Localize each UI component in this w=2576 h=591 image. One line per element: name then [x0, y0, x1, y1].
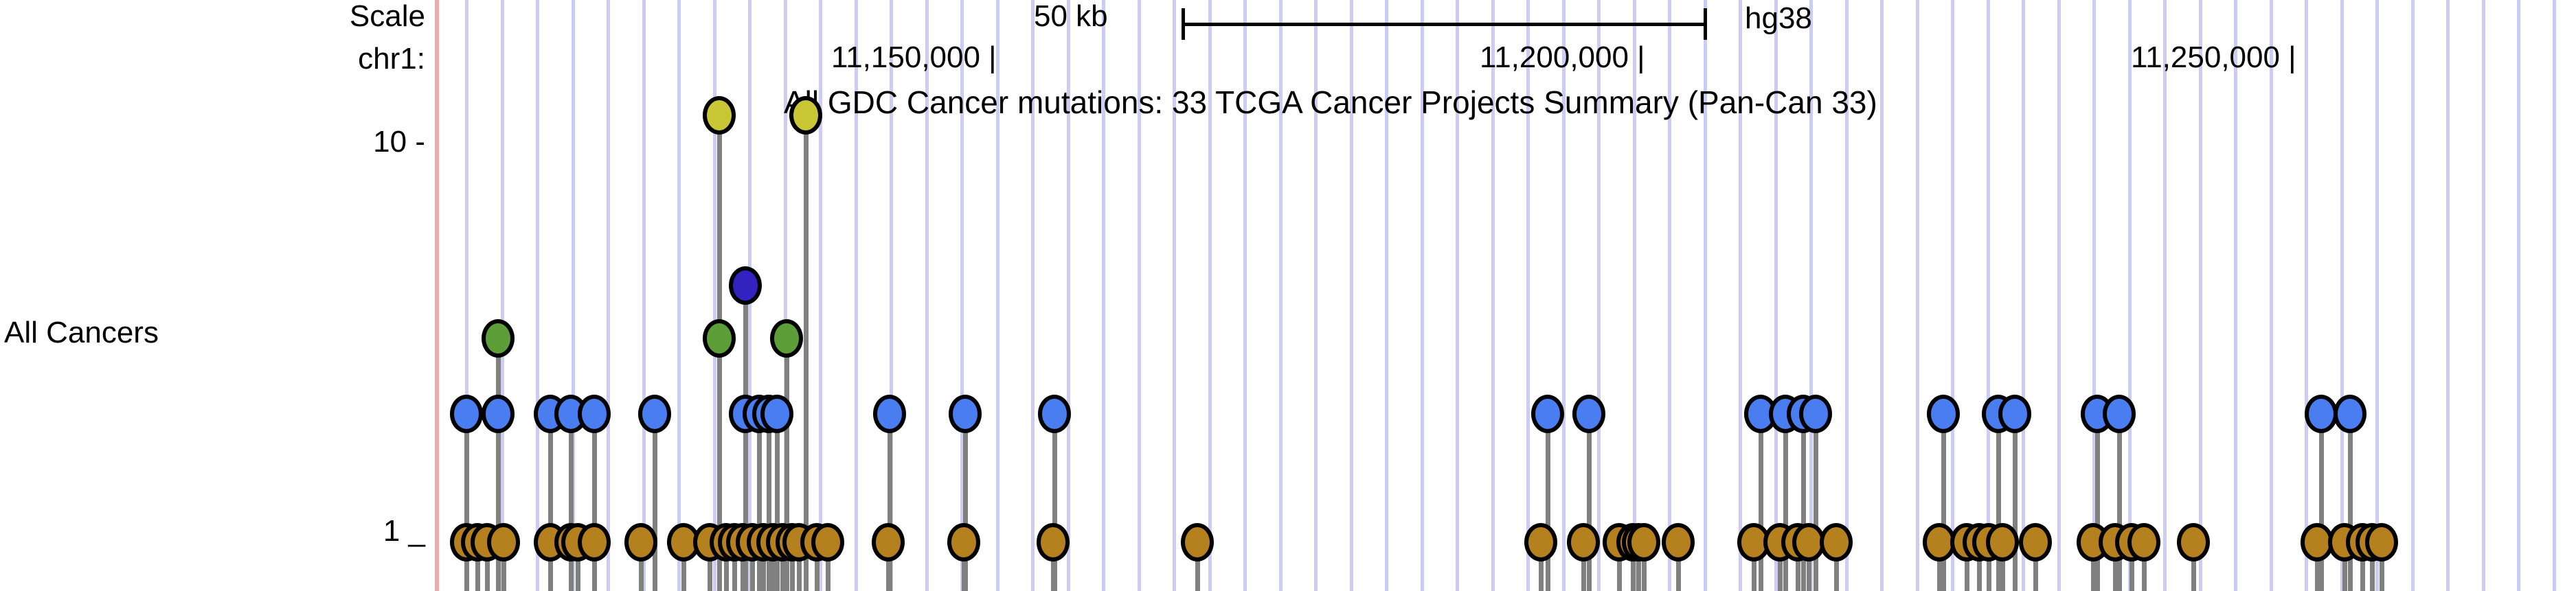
- lollipop-head[interactable]: [1524, 523, 1557, 561]
- lollipop-head[interactable]: [2305, 395, 2338, 433]
- lollipop-head[interactable]: [770, 319, 803, 358]
- lollipop-head[interactable]: [578, 523, 611, 561]
- y-axis-tick-top: 10 -: [373, 127, 425, 157]
- lollipop-stem: [775, 414, 780, 591]
- lollipop-stem: [804, 115, 809, 591]
- lollipop-stem: [1801, 414, 1806, 591]
- lollipop-head[interactable]: [1799, 395, 1832, 433]
- lollipop-head[interactable]: [2019, 523, 2052, 561]
- lollipop-head[interactable]: [2365, 523, 2398, 561]
- lollipop-head[interactable]: [872, 523, 905, 561]
- lollipop-head[interactable]: [811, 523, 844, 561]
- lollipop-head[interactable]: [2103, 395, 2136, 433]
- lollipop-stem: [1546, 414, 1550, 591]
- lollipop-stem: [1587, 414, 1592, 591]
- track-label-column: Scale chr1: 10 - 1 _ All Cancers: [0, 0, 435, 591]
- scale-label: Scale: [350, 1, 425, 32]
- lollipop-stem: [963, 414, 968, 591]
- chromosome-label[interactable]: chr1:: [358, 44, 425, 74]
- lollipop-stem: [2319, 414, 2324, 591]
- lollipop-head[interactable]: [1998, 395, 2031, 433]
- lollipop-stem: [2013, 414, 2018, 591]
- lollipop-stem: [548, 414, 553, 591]
- lollipop-stem: [653, 414, 657, 591]
- lollipop-head[interactable]: [638, 395, 671, 433]
- lollipop-head[interactable]: [873, 395, 906, 433]
- lollipop-stem: [592, 414, 597, 591]
- lollipop-head[interactable]: [1986, 523, 2019, 561]
- lollipop-stem: [1814, 414, 1818, 591]
- genome-browser-view: Scale chr1: 10 - 1 _ All Cancers 50 kb h…: [0, 0, 2576, 591]
- lollipop-head[interactable]: [949, 395, 982, 433]
- lollipop-head[interactable]: [1038, 395, 1071, 433]
- lollipop-stem: [1052, 414, 1057, 591]
- lollipop-stem: [2348, 414, 2353, 591]
- lollipop-head[interactable]: [947, 523, 980, 561]
- lollipop-head[interactable]: [703, 319, 736, 358]
- lollipop-head[interactable]: [729, 266, 762, 305]
- lollipop-markers-layer[interactable]: [435, 0, 2576, 591]
- lollipop-stem: [1759, 414, 1763, 591]
- lollipop-head[interactable]: [1567, 523, 1600, 561]
- lollipop-head[interactable]: [703, 96, 736, 135]
- lollipop-head[interactable]: [1531, 395, 1564, 433]
- lollipop-head[interactable]: [1662, 523, 1695, 561]
- lollipop-stem: [464, 414, 469, 591]
- lollipop-head[interactable]: [1820, 523, 1853, 561]
- lollipop-stem: [1783, 414, 1788, 591]
- lollipop-stem: [888, 414, 892, 591]
- lollipop-head[interactable]: [482, 319, 515, 358]
- track-name-label[interactable]: All Cancers: [4, 318, 159, 348]
- lollipop-head[interactable]: [2127, 523, 2160, 561]
- lollipop-stem: [2095, 414, 2100, 591]
- lollipop-head[interactable]: [578, 395, 611, 433]
- lollipop-head[interactable]: [1181, 523, 1214, 561]
- lollipop-stem: [1941, 414, 1946, 591]
- lollipop-head[interactable]: [789, 96, 822, 135]
- lollipop-head[interactable]: [624, 523, 657, 561]
- y-axis-tick-bottom: 1 _: [383, 516, 425, 546]
- lollipop-head[interactable]: [1627, 523, 1660, 561]
- lollipop-head[interactable]: [2334, 395, 2366, 433]
- lollipop-head[interactable]: [482, 395, 515, 433]
- lollipop-head[interactable]: [450, 395, 483, 433]
- lollipop-head[interactable]: [487, 523, 520, 561]
- lollipop-head[interactable]: [760, 395, 793, 433]
- lollipop-head[interactable]: [1037, 523, 1070, 561]
- lollipop-head[interactable]: [1572, 395, 1605, 433]
- lollipop-head[interactable]: [1927, 395, 1960, 433]
- track-plot-area[interactable]: 50 kb hg38 11,150,000 |11,200,000 |11,25…: [435, 0, 2576, 591]
- lollipop-stem: [2117, 414, 2122, 591]
- lollipop-head[interactable]: [2177, 523, 2210, 561]
- lollipop-stem: [569, 414, 574, 591]
